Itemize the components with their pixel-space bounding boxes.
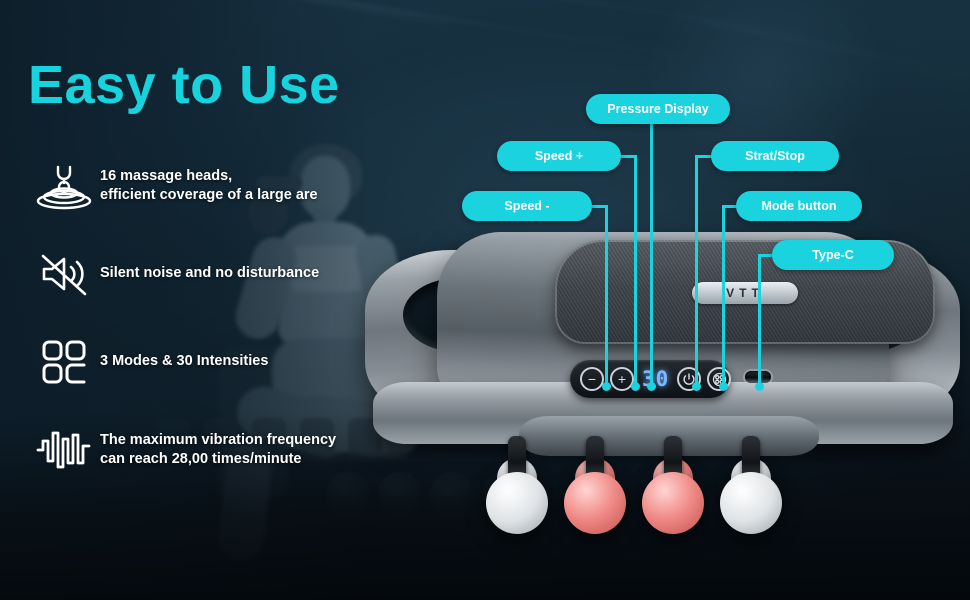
massage-gun-device: VTT − + 30 (355, 232, 970, 572)
four-squares-modes-icon (28, 339, 100, 385)
mute-speaker-icon (28, 250, 100, 298)
feature-line: The maximum vibration frequency (100, 431, 336, 450)
callout-pressure-display[interactable]: Pressure Display (586, 94, 730, 124)
feature-list: 16 massage heads, efficient coverage of … (28, 155, 388, 507)
speed-decrease-button[interactable]: − (580, 367, 604, 391)
feature-line: can reach 28,00 times/minute (100, 450, 336, 469)
list-item: 16 massage heads, efficient coverage of … (28, 155, 388, 217)
callout-type-c[interactable]: Type-C (772, 240, 894, 270)
feature-line: efficient coverage of a large are (100, 186, 318, 205)
feature-line: Silent noise and no disturbance (100, 264, 319, 283)
callout-start-stop[interactable]: Strat/Stop (711, 141, 839, 171)
list-item-label: Silent noise and no disturbance (100, 264, 319, 283)
callout-speed-plus[interactable]: Speed + (497, 141, 621, 171)
page-title: Easy to Use (28, 58, 340, 112)
feature-line: 3 Modes & 30 Intensities (100, 352, 268, 371)
massage-head-ripple-icon (28, 162, 100, 210)
massage-heads-group (495, 422, 835, 572)
brand-logo: VTT (692, 282, 798, 304)
list-item: The maximum vibration frequency can reac… (28, 419, 388, 481)
list-item-label: 3 Modes & 30 Intensities (100, 352, 268, 371)
vibration-waveform-icon (28, 426, 100, 474)
list-item: Silent noise and no disturbance (28, 243, 388, 305)
list-item-label: The maximum vibration frequency can reac… (100, 431, 336, 470)
callout-mode-button[interactable]: Mode button (736, 191, 862, 221)
list-item: 3 Modes & 30 Intensities (28, 331, 388, 393)
feature-line: 16 massage heads, (100, 167, 318, 186)
callout-speed-minus[interactable]: Speed - (462, 191, 592, 221)
list-item-label: 16 massage heads, efficient coverage of … (100, 167, 318, 206)
